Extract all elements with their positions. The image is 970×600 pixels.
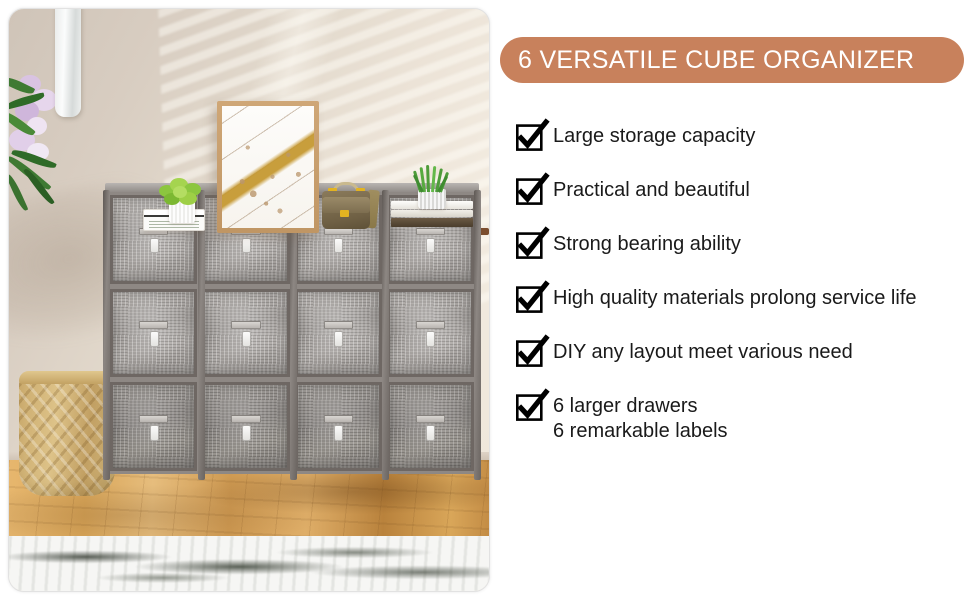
draped-towel [55,9,81,117]
fabric-drawer [298,385,379,468]
photo-scene [9,9,489,591]
cube-storage-unit [107,192,477,474]
feature-label: High quality materials prolong service l… [553,284,917,311]
product-marketing-image: 6 VERSATILE CUBE ORGANIZER Large storage… [0,0,970,600]
drawer-label-slot [324,415,353,422]
drawer-label-slot [416,321,445,328]
rug-pattern [9,536,489,591]
frame-post-left [103,190,110,480]
area-rug [9,536,489,591]
bag-clasp [340,210,349,217]
basket-rim [19,371,115,384]
list-item: DIY any layout meet various need [516,338,968,368]
cube-cell [110,382,197,471]
grass-plant-striped-pot [409,169,453,209]
art-canvas [222,106,314,228]
cube-cell [202,289,289,378]
woven-basket [19,371,115,496]
drawer-label-slot [139,321,168,328]
checkbox-checked-icon [516,393,545,422]
list-item: Practical and beautiful [516,176,968,206]
fabric-drawer [113,292,194,375]
fabric-drawer [298,292,379,375]
cube-cell [110,289,197,378]
leather-handbag [322,182,376,229]
cube-cell [295,382,382,471]
drawer-handle [334,238,343,254]
checkbox-checked-icon [516,339,545,368]
list-item: High quality materials prolong service l… [516,284,968,314]
abstract-framed-art [217,101,319,233]
cube-cell [202,382,289,471]
feature-label: Large storage capacity [553,122,755,149]
page-title: 6 VERSATILE CUBE ORGANIZER [500,46,914,75]
drawer-handle [426,238,435,254]
fabric-drawer [390,292,471,375]
drawer-handle [150,238,159,254]
drawer-label-slot [324,321,353,328]
drawer-label-slot [416,415,445,422]
drawer-handle [426,331,435,347]
feature-label: Practical and beautiful [553,176,750,203]
drawer-handle [242,425,251,441]
feature-list: Large storage capacity Practical and bea… [516,122,968,468]
frame-post [382,190,389,480]
green-plant-white-pot [157,177,205,223]
drawer-handle [334,331,343,347]
drawer-handle [242,238,251,254]
frame-post [290,190,297,480]
features-panel: 6 VERSATILE CUBE ORGANIZER Large storage… [498,0,970,600]
drawer-label-slot [231,321,260,328]
checkbox-checked-icon [516,285,545,314]
checkbox-checked-icon [516,231,545,260]
drawer-handle [242,331,251,347]
list-item: 6 larger drawers 6 remarkable labels [516,392,968,444]
fabric-drawer [113,385,194,468]
drawer-handle [150,425,159,441]
list-item: Strong bearing ability [516,230,968,260]
drawer-handle [334,425,343,441]
fabric-drawer [205,385,286,468]
drawer-handle [426,425,435,441]
fabric-drawer [390,385,471,468]
feature-label: 6 larger drawers 6 remarkable labels [553,392,728,444]
drawer-handle [150,331,159,347]
product-photo [8,8,490,592]
feature-label: DIY any layout meet various need [553,338,853,365]
checkbox-checked-icon [516,177,545,206]
feature-label: Strong bearing ability [553,230,741,257]
cube-cell [387,382,474,471]
cube-cell [387,289,474,378]
frame-post [198,190,205,480]
cube-cell [295,289,382,378]
frame-post-right [474,190,481,480]
fabric-drawer [205,292,286,375]
drawer-label-slot [139,415,168,422]
list-item: Large storage capacity [516,122,968,152]
title-banner: 6 VERSATILE CUBE ORGANIZER [500,37,964,83]
checkbox-checked-icon [516,123,545,152]
drawer-label-slot [231,415,260,422]
